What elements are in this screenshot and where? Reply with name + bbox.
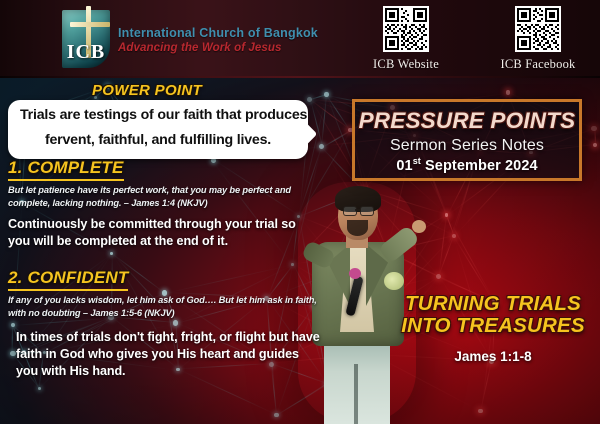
power-point-title: POWER POINT xyxy=(92,82,202,102)
series-subtitle: Sermon Series Notes xyxy=(355,137,579,155)
section-2-heading: 2. CONFIDENT xyxy=(8,268,128,291)
power-point-title-text: POWER POINT xyxy=(92,82,202,99)
qr-code-icon[interactable] xyxy=(383,6,429,52)
icb-logo: ICB xyxy=(56,4,116,72)
organization-name: International Church of Bangkok xyxy=(118,26,318,40)
qr-label-website: ICB Website xyxy=(358,57,454,72)
section-1-underline xyxy=(8,179,124,181)
series-banner: PRESSURE POINTS Sermon Series Notes 01st… xyxy=(352,99,582,181)
logo-text: ICB xyxy=(64,41,108,64)
speaker-leg-split xyxy=(354,364,358,424)
speaker-beard xyxy=(347,220,368,236)
section-2-underline xyxy=(8,289,128,291)
section-1-heading: 1. COMPLETE xyxy=(8,158,124,181)
section-2-body: In times of trials don't fight, fright, … xyxy=(8,329,320,380)
section-2-heading-text: 2. CONFIDENT xyxy=(8,268,128,287)
speaker-hand-right xyxy=(412,220,426,233)
section-1-body: Continuously be committed through your t… xyxy=(8,216,320,250)
sermon-notes-slide: ICB International Church of Bangkok Adva… xyxy=(0,0,600,424)
qr-code-glyph xyxy=(385,8,427,50)
callout-line-1: Trials are testings of our faith that pr… xyxy=(20,107,296,125)
organization-tagline: Advancing the Work of Jesus xyxy=(118,42,318,54)
qr-item-website[interactable]: ICB Website xyxy=(358,6,454,72)
speaker-glasses-left xyxy=(343,206,357,216)
sermon-scripture-reference: James 1:1-8 xyxy=(393,349,593,364)
cross-icon-horizontal xyxy=(70,22,110,27)
key-verse-callout: Trials are testings of our faith that pr… xyxy=(8,100,308,159)
qr-item-facebook[interactable]: ICB Facebook xyxy=(490,6,586,72)
section-confident: 2. CONFIDENT If any of you lacks wisdom,… xyxy=(8,268,320,380)
organization-block: International Church of Bangkok Advancin… xyxy=(118,26,318,54)
qr-label-facebook: ICB Facebook xyxy=(490,57,586,72)
microphone-windscreen xyxy=(349,268,361,279)
callout-line-2: fervent, faithful, and fulfilling lives. xyxy=(20,132,296,150)
qr-code-group: ICB Website xyxy=(358,6,586,72)
header-band: ICB International Church of Bangkok Adva… xyxy=(0,0,600,78)
section-1-heading-text: 1. COMPLETE xyxy=(8,158,124,177)
speaker-glasses-bridge xyxy=(355,209,360,211)
flower-decoration xyxy=(384,272,404,290)
series-title: PRESSURE POINTS xyxy=(355,108,579,134)
date-day: 01 xyxy=(396,158,412,174)
sermon-title-line-1: TURNING TRIALS xyxy=(393,293,593,315)
series-date: 01st September 2024 xyxy=(355,156,579,174)
sermon-title-line-2: INTO TREASURES xyxy=(393,315,593,337)
section-2-scripture: If any of you lacks wisdom, let him ask … xyxy=(8,294,320,319)
date-ordinal: st xyxy=(413,156,421,166)
section-1-scripture: But let patience have its perfect work, … xyxy=(8,184,320,209)
sermon-title-block: TURNING TRIALS INTO TREASURES James 1:1-… xyxy=(393,293,593,364)
speaker-glasses-right xyxy=(360,206,374,216)
date-rest: September 2024 xyxy=(421,158,538,174)
qr-code-glyph xyxy=(517,8,559,50)
qr-code-icon[interactable] xyxy=(515,6,561,52)
section-complete: 1. COMPLETE But let patience have its pe… xyxy=(8,158,320,250)
